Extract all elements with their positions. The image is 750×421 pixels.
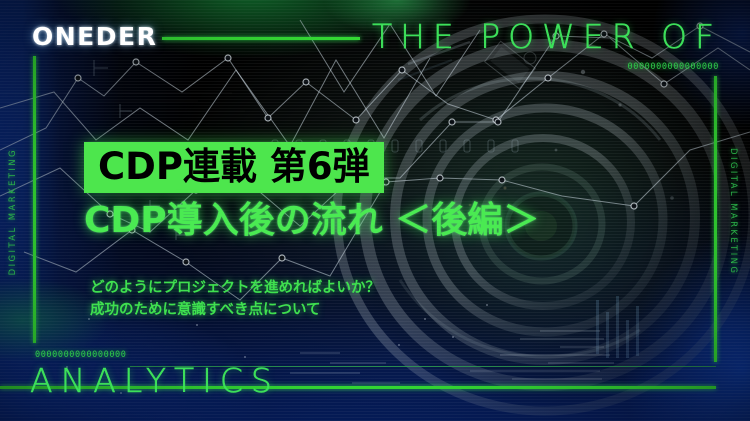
promo-banner: ONEDER THE POWER OF ANALYTICS 0000000000… xyxy=(0,0,750,421)
lede-line-1: どのようにプロジェクトを進めればよいか？ xyxy=(90,277,380,299)
headline-subtitle: CDP導入後の流れ ＜後編＞ xyxy=(84,202,750,240)
lede-line-2: 成功のために意識すべき点について xyxy=(90,299,380,321)
headline-badge: CDP連載 第6弾 xyxy=(84,142,384,193)
binary-text-right: 0000000000000000 xyxy=(628,62,719,72)
lede-text: どのようにプロジェクトを進めればよいか？ 成功のために意識すべき点について xyxy=(90,277,380,322)
decor-headline-bottom: ANALYTICS xyxy=(30,361,280,400)
decor-headline-top: THE POWER OF xyxy=(372,17,722,56)
glitch-band xyxy=(0,110,245,112)
glitch-band xyxy=(615,10,750,11)
headline-block: CDP連載 第6弾 CDP導入後の流れ ＜後編＞ xyxy=(0,142,750,240)
binary-text-left: 0000000000000000 xyxy=(35,350,126,360)
brand-logo[interactable]: ONEDER xyxy=(32,22,157,51)
glitch-band xyxy=(0,100,198,102)
frame-line-top-horizontal xyxy=(162,37,360,40)
